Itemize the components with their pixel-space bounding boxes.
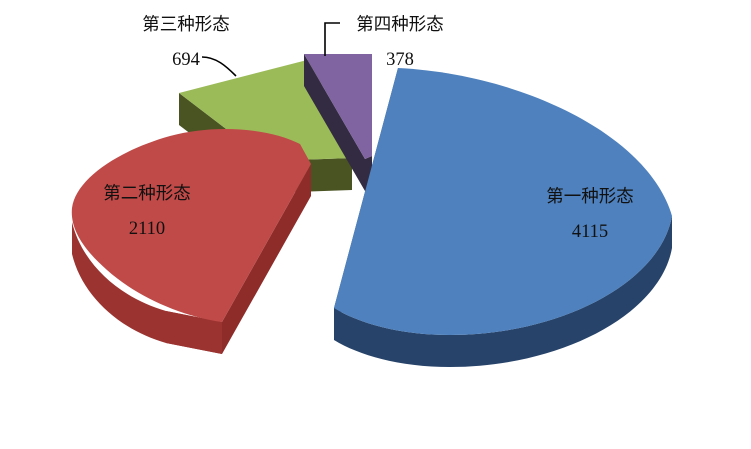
pie-chart-svg: 第一种形态 4115 第二种形态 2110 第三种形态 694 第四种形态 37… (0, 0, 751, 449)
pie-label-slice-3-value: 694 (172, 50, 200, 70)
pie-label-slice-2-value: 2110 (129, 219, 165, 239)
pie-label-slice-4-name: 第四种形态 (356, 14, 444, 34)
pie-chart-container: 第一种形态 4115 第二种形态 2110 第三种形态 694 第四种形态 37… (0, 0, 751, 449)
pie-label-slice-1-value: 4115 (572, 222, 608, 242)
pie-label-slice-1-name: 第一种形态 (546, 186, 634, 206)
pie-label-slice-4-value: 378 (386, 50, 414, 70)
pie-label-slice-2-name: 第二种形态 (103, 183, 191, 203)
pie-label-slice-3-name: 第三种形态 (142, 14, 230, 34)
